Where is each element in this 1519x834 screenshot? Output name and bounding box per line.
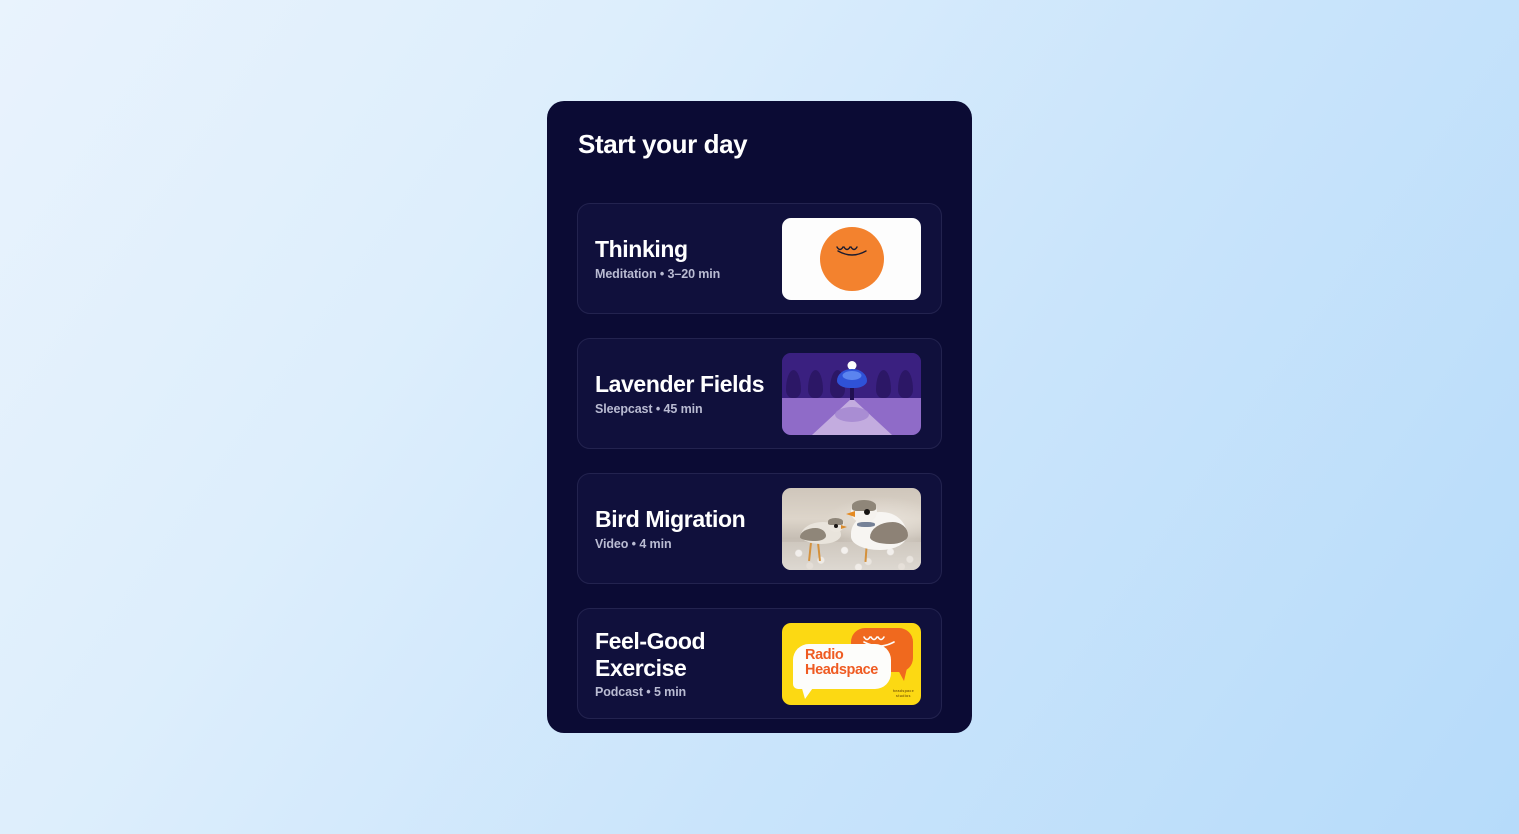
content-card-feel-good-exercise[interactable]: Feel-Good Exercise Podcast • 5 min	[577, 608, 942, 719]
radio-headspace-wordmark: Radio Headspace	[805, 648, 878, 679]
wordmark-line-2: Headspace	[805, 663, 878, 679]
chick-eye-shape	[834, 524, 838, 528]
card-title: Thinking	[595, 236, 720, 263]
start-your-day-panel: Start your day Thinking Meditation • 3–2…	[547, 101, 972, 733]
chick-beak-shape	[841, 525, 847, 529]
adult-bird-eye-shape	[864, 509, 870, 515]
card-title: Feel-Good Exercise	[595, 628, 782, 682]
pebble-ground-shape	[782, 542, 921, 569]
field-bush-shape	[835, 407, 869, 422]
page-title: Start your day	[578, 129, 942, 160]
bird-migration-thumbnail[interactable]	[782, 488, 921, 570]
adult-bird-beak-shape	[846, 511, 855, 517]
studios-line-1: headspace	[893, 689, 914, 694]
radio-headspace-thumbnail[interactable]: Radio Headspace headspace studios	[782, 623, 921, 705]
card-text-block: Bird Migration Video • 4 min	[595, 506, 745, 551]
card-title: Lavender Fields	[595, 371, 764, 398]
lavender-fields-thumbnail[interactable]	[782, 353, 921, 435]
card-text-block: Feel-Good Exercise Podcast • 5 min	[595, 628, 782, 700]
card-subtitle: Sleepcast • 45 min	[595, 402, 764, 416]
card-subtitle: Meditation • 3–20 min	[595, 267, 720, 281]
sleepy-smile-icon	[835, 245, 869, 258]
content-card-thinking[interactable]: Thinking Meditation • 3–20 min	[577, 203, 942, 314]
headspace-studios-wordmark: headspace studios	[893, 689, 914, 699]
card-subtitle: Video • 4 min	[595, 537, 745, 551]
content-card-list: Thinking Meditation • 3–20 min Lavender	[577, 203, 942, 719]
studios-line-2: studios	[893, 694, 914, 699]
wordmark-line-1: Radio	[805, 648, 878, 664]
card-text-block: Thinking Meditation • 3–20 min	[595, 236, 720, 281]
content-card-lavender-fields[interactable]: Lavender Fields Sleepcast • 45 min	[577, 338, 942, 449]
card-subtitle: Podcast • 5 min	[595, 685, 782, 699]
content-card-bird-migration[interactable]: Bird Migration Video • 4 min	[577, 473, 942, 584]
card-text-block: Lavender Fields Sleepcast • 45 min	[595, 371, 764, 416]
tree-highlight-shape	[842, 371, 861, 380]
card-title: Bird Migration	[595, 506, 745, 533]
adult-bird-collar-shape	[857, 522, 875, 527]
thinking-thumbnail[interactable]	[782, 218, 921, 300]
orange-orb-shape	[820, 227, 884, 291]
